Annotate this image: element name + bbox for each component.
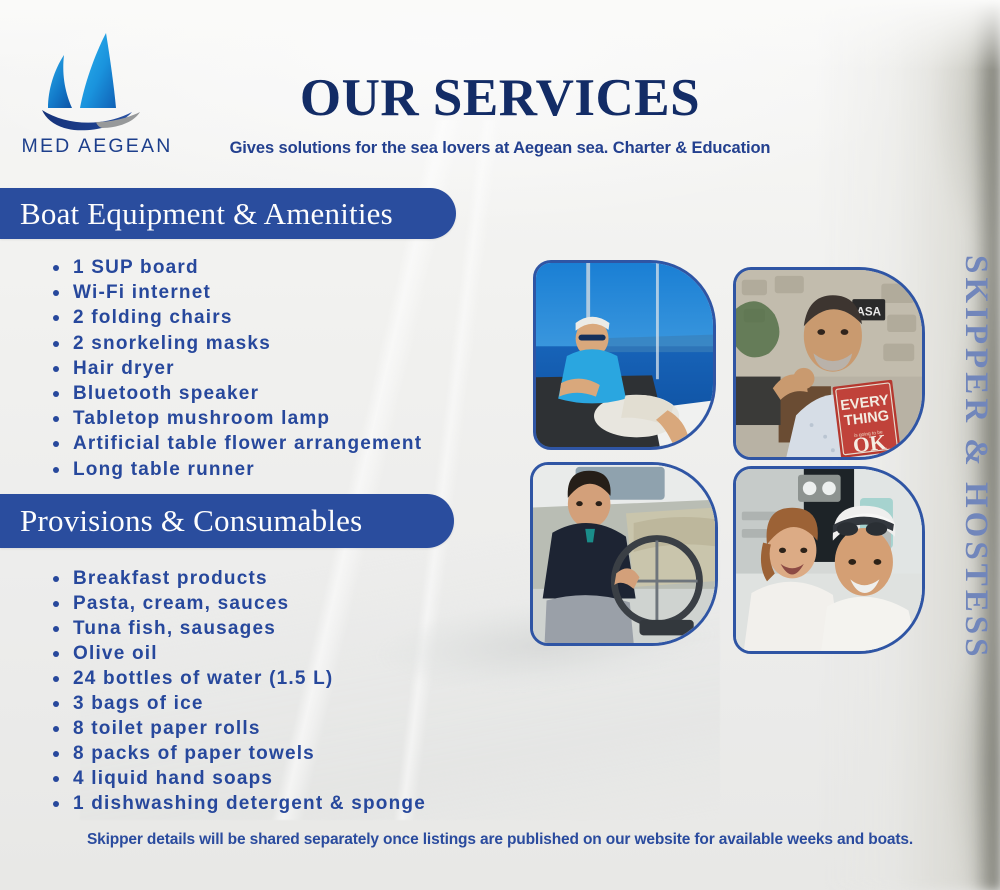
photo-skipper-on-deck: [533, 260, 716, 450]
list-item: 2 snorkeling masks: [45, 331, 422, 356]
section-heading-provisions-label: Provisions & Consumables: [20, 503, 362, 539]
page-subtitle: Gives solutions for the sea lovers at Ae…: [0, 139, 1000, 158]
section-heading-equipment: Boat Equipment & Amenities: [0, 188, 456, 239]
list-item: Long table runner: [45, 457, 422, 482]
photo-skipper-holding-book: ASA EVERY THING is going to be OK: [733, 267, 925, 460]
list-item: 8 toilet paper rolls: [45, 716, 426, 741]
side-label-skipper-hostess: SKIPPER & HOSTESS: [957, 255, 994, 635]
list-item: 1 dishwashing detergent & sponge: [45, 791, 426, 816]
section-heading-provisions: Provisions & Consumables: [0, 494, 454, 548]
list-item: Wi-Fi internet: [45, 280, 422, 305]
list-item: 2 folding chairs: [45, 305, 422, 330]
list-item: Breakfast products: [45, 566, 426, 591]
list-item: Pasta, cream, sauces: [45, 591, 426, 616]
list-item: Tuna fish, sausages: [45, 616, 426, 641]
photo-skipper-at-helm: [530, 462, 718, 646]
list-item: Artificial table flower arrangement: [45, 431, 422, 456]
list-item: 3 bags of ice: [45, 691, 426, 716]
list-item: Bluetooth speaker: [45, 381, 422, 406]
equipment-list: 1 SUP board Wi-Fi internet 2 folding cha…: [45, 255, 422, 482]
poster-canvas: MED AEGEAN OUR SERVICES Gives solutions …: [0, 0, 1000, 890]
list-item: 1 SUP board: [45, 255, 422, 280]
photo-hostess-and-skipper: [733, 466, 925, 654]
list-item: Tabletop mushroom lamp: [45, 406, 422, 431]
list-item: Hair dryer: [45, 356, 422, 381]
list-item: 4 liquid hand soaps: [45, 766, 426, 791]
provisions-list: Breakfast products Pasta, cream, sauces …: [45, 566, 426, 816]
section-heading-equipment-label: Boat Equipment & Amenities: [20, 196, 393, 232]
list-item: 24 bottles of water (1.5 L): [45, 666, 426, 691]
footer-note: Skipper details will be shared separatel…: [0, 831, 1000, 849]
page-title: OUR SERVICES: [0, 72, 1000, 125]
book-text-line3: OK: [852, 430, 888, 457]
list-item: Olive oil: [45, 641, 426, 666]
list-item: 8 packs of paper towels: [45, 741, 426, 766]
